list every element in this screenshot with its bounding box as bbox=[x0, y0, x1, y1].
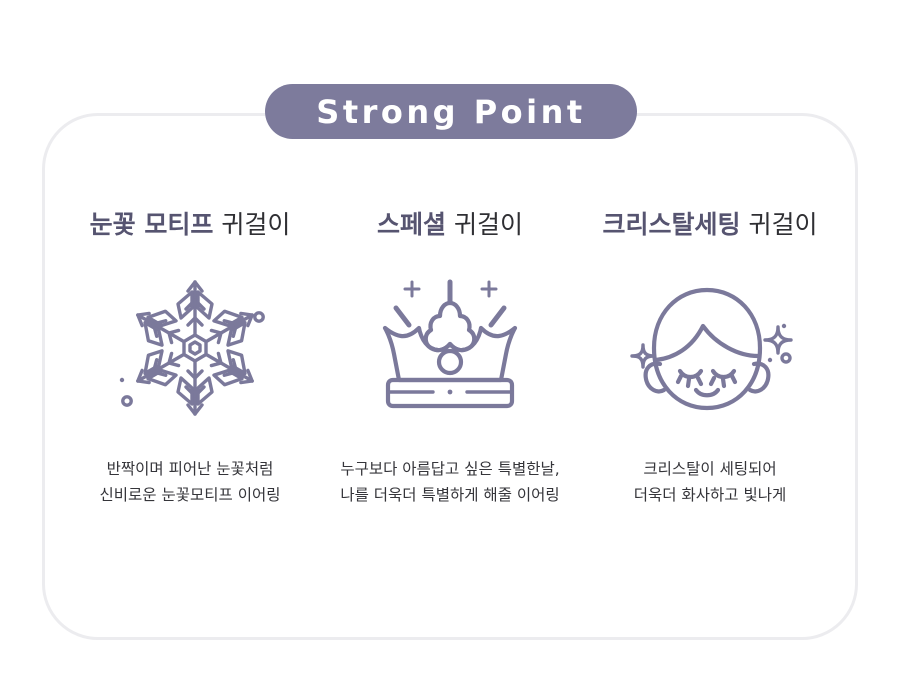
feature-column-crown: 스페셜 귀걸이 bbox=[320, 113, 580, 508]
feature-column-snowflake: 눈꽃 모티프 귀걸이 bbox=[60, 113, 320, 508]
column-heading-highlight: 스페셜 bbox=[377, 210, 446, 239]
caption-line: 누구보다 아름답고 싶은 특별한날, bbox=[340, 456, 559, 482]
column-heading: 스페셜 귀걸이 bbox=[377, 208, 523, 242]
feature-column-face: 크리스탈세팅 귀걸이 bbox=[580, 113, 840, 508]
column-heading: 눈꽃 모티프 귀걸이 bbox=[90, 208, 291, 242]
column-heading-highlight: 크리스탈세팅 bbox=[603, 210, 741, 239]
caption-line: 나를 더욱더 특별하게 해줄 이어링 bbox=[340, 482, 559, 508]
feature-columns: 눈꽃 모티프 귀걸이 bbox=[42, 113, 858, 640]
caption-line: 신비로운 눈꽃모티프 이어링 bbox=[100, 482, 281, 508]
caption-line: 반짝이며 피어난 눈꽃처럼 bbox=[100, 456, 281, 482]
snowflake-icon bbox=[103, 268, 278, 428]
column-caption: 크리스탈이 세팅되어 더욱더 화사하고 빛나게 bbox=[634, 456, 786, 508]
column-heading-rest: 귀걸이 bbox=[748, 210, 817, 239]
column-heading-highlight: 눈꽃 모티프 bbox=[90, 210, 214, 239]
strong-point-banner: Strong Point 눈꽃 모티프 귀걸이 bbox=[0, 0, 900, 690]
column-heading-rest: 귀걸이 bbox=[454, 210, 523, 239]
column-heading-rest: 귀걸이 bbox=[221, 210, 290, 239]
caption-line: 더욱더 화사하고 빛나게 bbox=[634, 482, 786, 508]
column-caption: 누구보다 아름답고 싶은 특별한날, 나를 더욱더 특별하게 해줄 이어링 bbox=[340, 456, 559, 508]
crown-icon bbox=[363, 268, 538, 428]
column-heading: 크리스탈세팅 귀걸이 bbox=[603, 208, 818, 242]
sparkling-face-icon bbox=[618, 268, 803, 428]
caption-line: 크리스탈이 세팅되어 bbox=[634, 456, 786, 482]
column-caption: 반짝이며 피어난 눈꽃처럼 신비로운 눈꽃모티프 이어링 bbox=[100, 456, 281, 508]
